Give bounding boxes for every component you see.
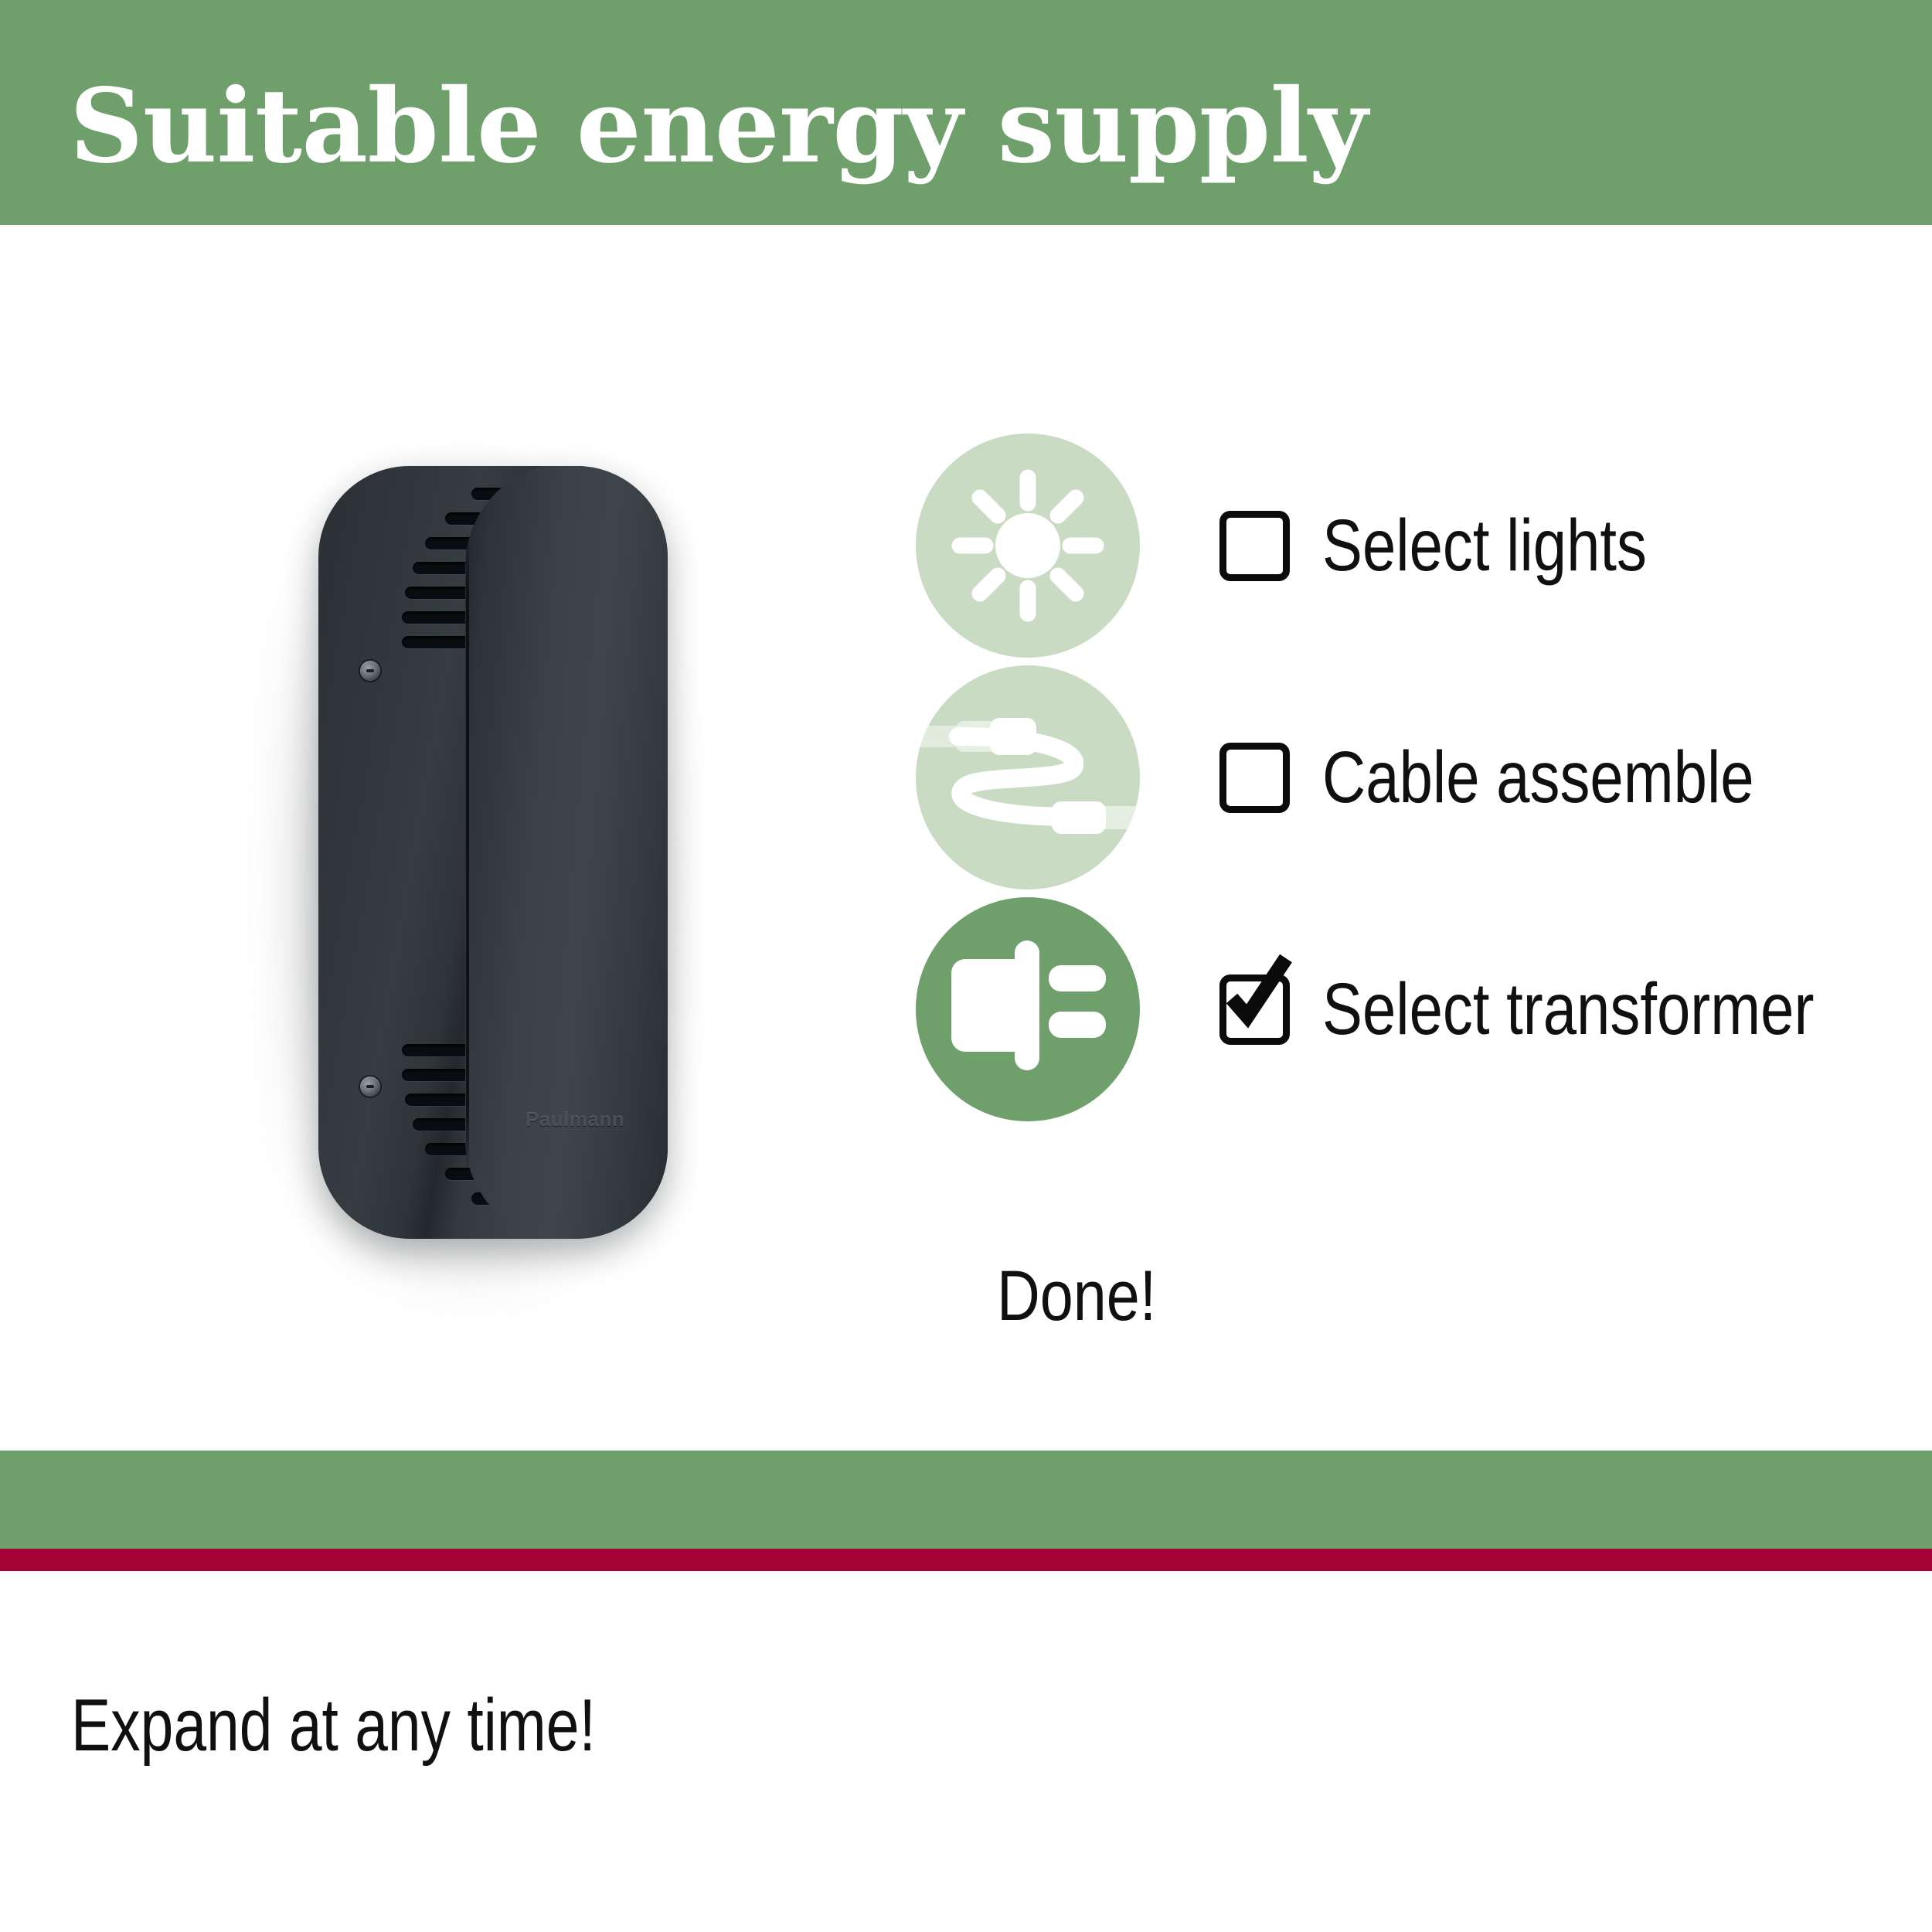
- header-band: Suitable energy supply: [0, 0, 1932, 225]
- checklist-label: Cable assemble: [1322, 741, 1754, 815]
- footer-green-band: [0, 1451, 1932, 1549]
- cable-icon: [916, 665, 1140, 889]
- screw-icon: [360, 1077, 380, 1097]
- plug-icon: [916, 897, 1140, 1121]
- checkbox-select-lights[interactable]: [1219, 511, 1290, 581]
- transformer-body: Paulmann: [318, 466, 668, 1239]
- checkmark-icon: [1219, 955, 1297, 1032]
- checkbox-select-transformer[interactable]: [1219, 975, 1290, 1045]
- checklist-label: Select transformer: [1322, 973, 1814, 1046]
- checklist-item-select-transformer[interactable]: Select transformer: [916, 893, 1905, 1125]
- main-content-area: Paulmann: [0, 225, 1932, 1451]
- footer-caption: Expand at any time!: [71, 1689, 596, 1763]
- sun-icon: [916, 434, 1140, 658]
- checklist-label: Select lights: [1322, 509, 1647, 583]
- screw-icon: [360, 661, 380, 681]
- product-image: Paulmann: [255, 395, 811, 1322]
- brand-logo: Paulmann: [526, 1107, 624, 1131]
- checklist-item-cable-assemble[interactable]: Cable assemble: [916, 662, 1905, 893]
- checklist: Select lights Cable assemble: [916, 430, 1905, 1125]
- page-title: Suitable energy supply: [70, 76, 1367, 178]
- footer-red-band: [0, 1549, 1932, 1571]
- transformer-seam: [466, 532, 469, 1174]
- checklist-item-select-lights[interactable]: Select lights: [916, 430, 1905, 662]
- checkbox-cable-assemble[interactable]: [1219, 743, 1290, 813]
- done-text: Done!: [997, 1260, 1156, 1332]
